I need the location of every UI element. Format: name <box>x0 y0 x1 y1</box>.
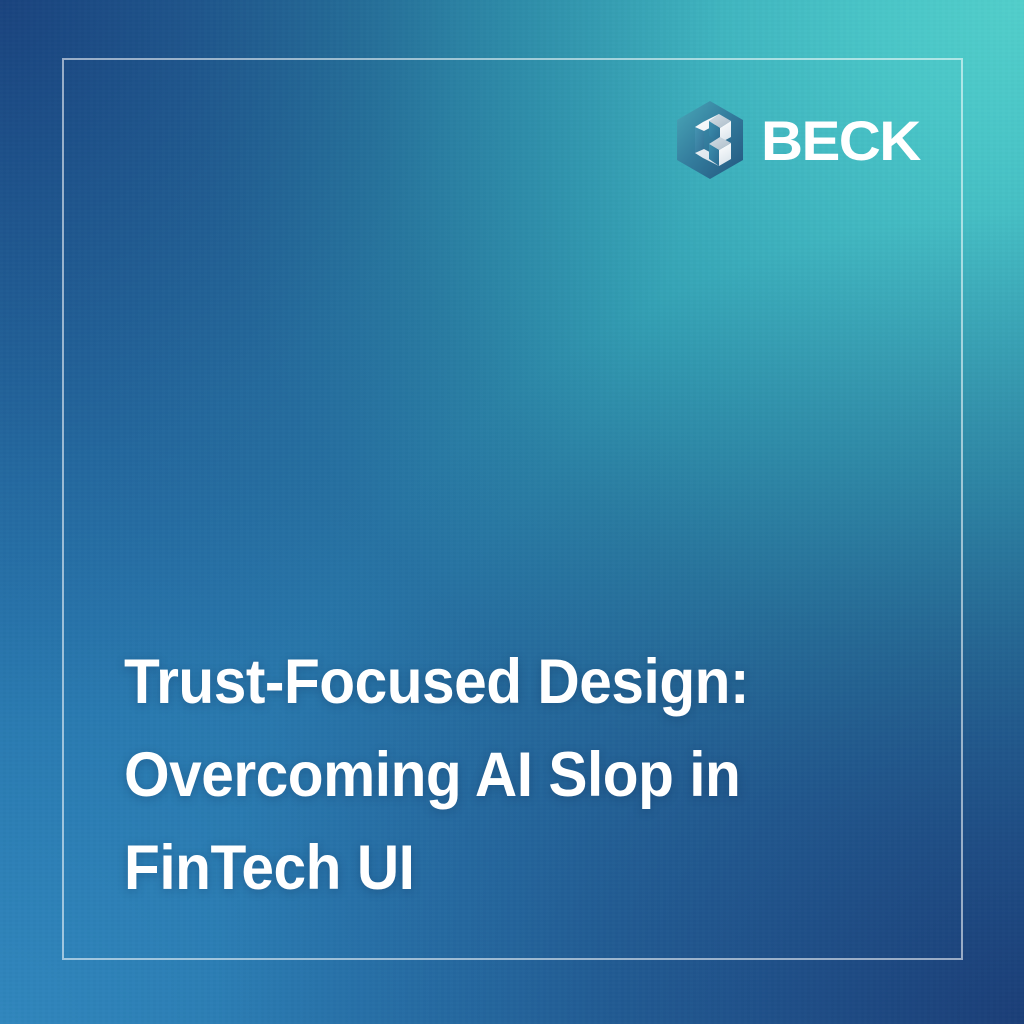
brand-logo-lockup: BECK <box>673 100 914 180</box>
page-title: Trust-Focused Design: Overcoming AI Slop… <box>124 636 775 915</box>
page-title-line-3: FinTech UI <box>124 822 775 915</box>
brand-wordmark: BECK <box>761 113 920 169</box>
page-title-line-2: Overcoming AI Slop in <box>124 729 775 822</box>
blog-title-card: BECK Trust-Focused Design: Overcoming AI… <box>0 0 1024 1024</box>
beck-hexagon-logo-icon <box>673 100 747 180</box>
page-title-line-1: Trust-Focused Design: <box>124 636 775 729</box>
